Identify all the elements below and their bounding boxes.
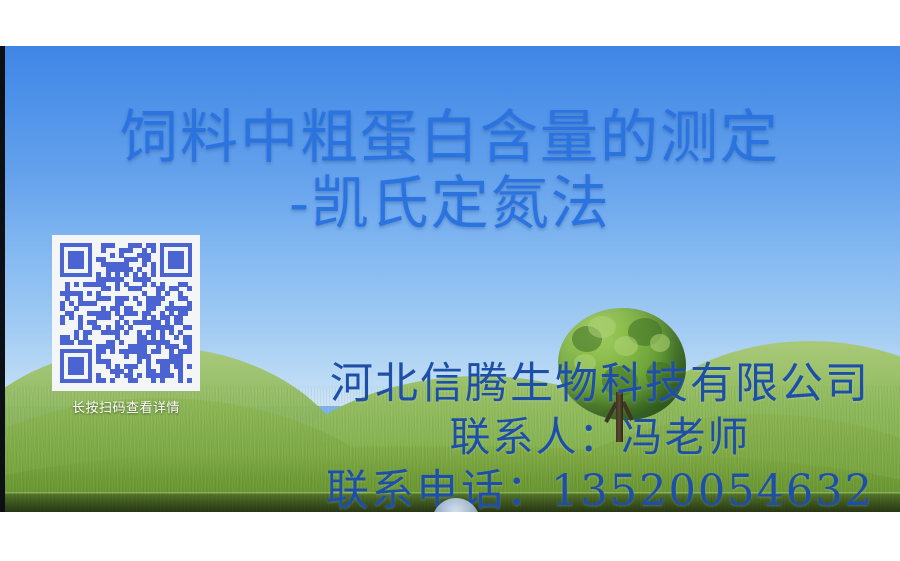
tree-icon bbox=[552, 308, 692, 444]
video-stage[interactable]: 饲料中粗蛋白含量的测定 -凯氏定氮法 长按扫码查看详情 河北信腾生物科技有限公司… bbox=[0, 46, 900, 512]
qr-code-icon[interactable] bbox=[52, 235, 200, 391]
frame-left-edge bbox=[0, 46, 5, 512]
qr-modules bbox=[60, 243, 192, 383]
player-progress-hairline[interactable] bbox=[0, 492, 900, 493]
video-player-page: 饲料中粗蛋白含量的测定 -凯氏定氮法 长按扫码查看详情 河北信腾生物科技有限公司… bbox=[0, 0, 900, 561]
qr-code-block[interactable]: 长按扫码查看详情 bbox=[52, 235, 200, 421]
tree-trunk bbox=[616, 392, 623, 442]
qr-caption-label: 长按扫码查看详情 bbox=[52, 397, 200, 416]
